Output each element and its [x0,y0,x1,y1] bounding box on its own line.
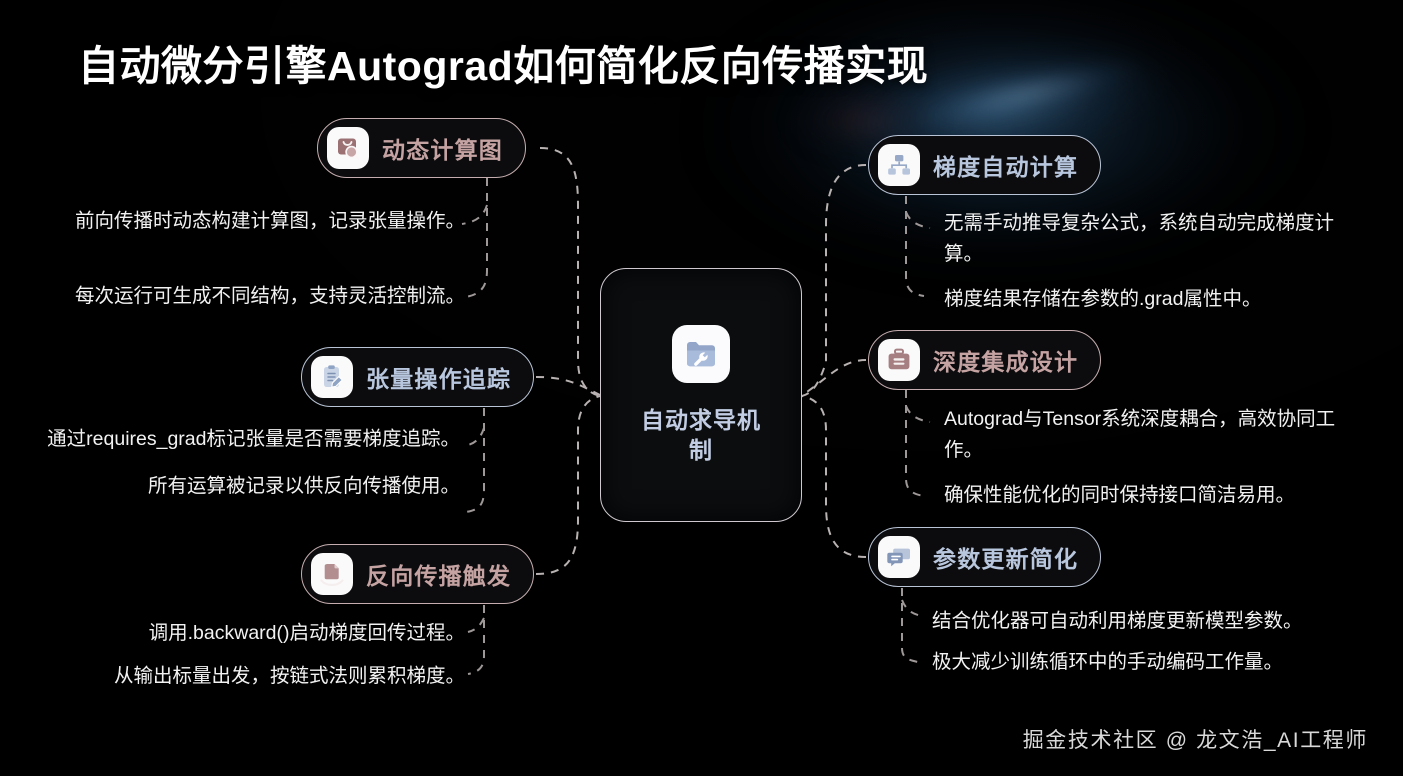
bullet-group-deep-integration: Autograd与Tensor系统深度耦合，高效协同工作。 确保性能优化的同时保… [944,404,1349,510]
bullet-group-param-update: 结合优化器可自动利用梯度更新模型参数。 极大减少训练循环中的手动编码工作量。 [932,606,1357,678]
branch-label: 张量操作追踪 [366,360,511,394]
bullet-item: 梯度结果存储在参数的.grad属性中。 [944,284,1349,315]
branch-node-param-update[interactable]: 参数更新简化 [868,527,1101,587]
branch-node-deep-integration[interactable]: 深度集成设计 [868,330,1101,390]
bullet-item: 前向传播时动态构建计算图，记录张量操作。 [20,206,465,237]
branch-label: 参数更新简化 [933,540,1078,574]
folder-wrench-icon [672,325,730,383]
bullet-group-backward-trigger: 调用.backward()启动梯度回传过程。 从输出标量出发，按链式法则累积梯度… [40,618,465,692]
bullet-item: 无需手动推导复杂公式，系统自动完成梯度计算。 [944,208,1349,270]
chat-bubbles-icon [878,536,920,578]
page-title: 自动微分引擎Autograd如何简化反向传播实现 [78,32,928,92]
center-node-label: 自动求导机制 [636,405,766,466]
hand-document-icon [311,553,353,595]
bullet-item: 所有运算被记录以供反向传播使用。 [30,471,460,502]
branch-label: 梯度自动计算 [933,148,1078,182]
branch-node-backward-trigger[interactable]: 反向传播触发 [301,544,534,604]
bullet-item: 结合优化器可自动利用梯度更新模型参数。 [932,606,1357,637]
branch-label: 动态计算图 [382,131,503,165]
bullet-item: 极大减少训练循环中的手动编码工作量。 [932,647,1357,678]
branch-node-dynamic-graph[interactable]: 动态计算图 [317,118,526,178]
branch-label: 反向传播触发 [366,557,511,591]
briefcase-icon [878,339,920,381]
bullet-group-tensor-tracking: 通过requires_grad标记张量是否需要梯度追踪。 所有运算被记录以供反向… [30,424,460,502]
image-search-icon [327,127,369,169]
hierarchy-icon [878,144,920,186]
bullet-group-dynamic-graph: 前向传播时动态构建计算图，记录张量操作。 每次运行可生成不同结构，支持灵活控制流… [20,206,465,312]
footer-attribution: 掘金技术社区 @ 龙文浩_AI工程师 [1023,724,1368,754]
bullet-item: 每次运行可生成不同结构，支持灵活控制流。 [20,281,465,312]
bullet-item: 确保性能优化的同时保持接口简洁易用。 [944,480,1349,511]
clipboard-pen-icon [311,356,353,398]
bullet-item: Autograd与Tensor系统深度耦合，高效协同工作。 [944,404,1349,466]
center-node[interactable]: 自动求导机制 [600,268,802,522]
branch-node-tensor-tracking[interactable]: 张量操作追踪 [301,347,534,407]
mindmap-canvas: 自动微分引擎Autograd如何简化反向传播实现 [0,0,1403,776]
bullet-item: 调用.backward()启动梯度回传过程。 [40,618,465,649]
bullet-group-auto-gradient: 无需手动推导复杂公式，系统自动完成梯度计算。 梯度结果存储在参数的.grad属性… [944,208,1349,314]
branch-label: 深度集成设计 [933,343,1078,377]
bullet-item: 从输出标量出发，按链式法则累积梯度。 [40,661,465,692]
branch-node-auto-gradient[interactable]: 梯度自动计算 [868,135,1101,195]
bullet-item: 通过requires_grad标记张量是否需要梯度追踪。 [30,424,460,455]
